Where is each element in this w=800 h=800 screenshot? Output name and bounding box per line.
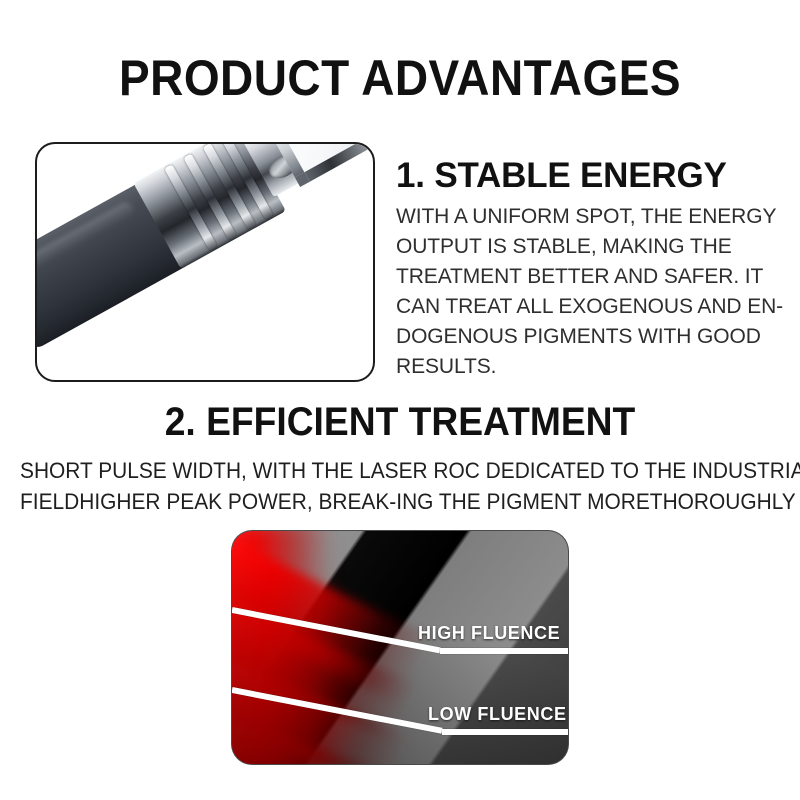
fluence-comparison-photo: HIGH FLUENCE LOW FLUENCE — [232, 531, 568, 764]
high-fluence-line-flat — [440, 648, 568, 654]
section-1-body: WITH A UNIFORM SPOT, THE ENERGY OUTPUT I… — [396, 202, 784, 382]
section-1: 1. STABLE ENERGY WITH A UNIFORM SPOT, TH… — [396, 156, 784, 382]
handpiece-tip-window — [279, 144, 373, 172]
page-title: PRODUCT ADVANTAGES — [32, 52, 768, 104]
high-fluence-label: HIGH FLUENCE — [418, 623, 560, 643]
low-fluence-line-flat — [442, 729, 568, 735]
low-fluence-label: LOW FLUENCE — [428, 704, 567, 724]
barrel-ring — [164, 164, 217, 251]
barrel-ring — [183, 154, 236, 241]
product-photo-frame — [35, 142, 375, 382]
laser-handpiece-photo — [37, 144, 373, 380]
product-advantages-page: PRODUCT ADVANTAGES 1. STABLE ENERGY — [0, 0, 800, 800]
section-1-heading: 1. STABLE ENERGY — [396, 156, 784, 196]
section-2-heading: 2. EFFICIENT TREATMENT — [28, 400, 772, 444]
handpiece-illustration — [37, 144, 373, 358]
section-2-body: SHORT PULSE WIDTH, WITH THE LASER ROC DE… — [20, 455, 780, 517]
section-2-body-line: FIELDHIGHER PEAK POWER, BREAK-ING THE PI… — [20, 486, 780, 517]
section-2-body-line: SHORT PULSE WIDTH, WITH THE LASER ROC DE… — [20, 455, 780, 486]
